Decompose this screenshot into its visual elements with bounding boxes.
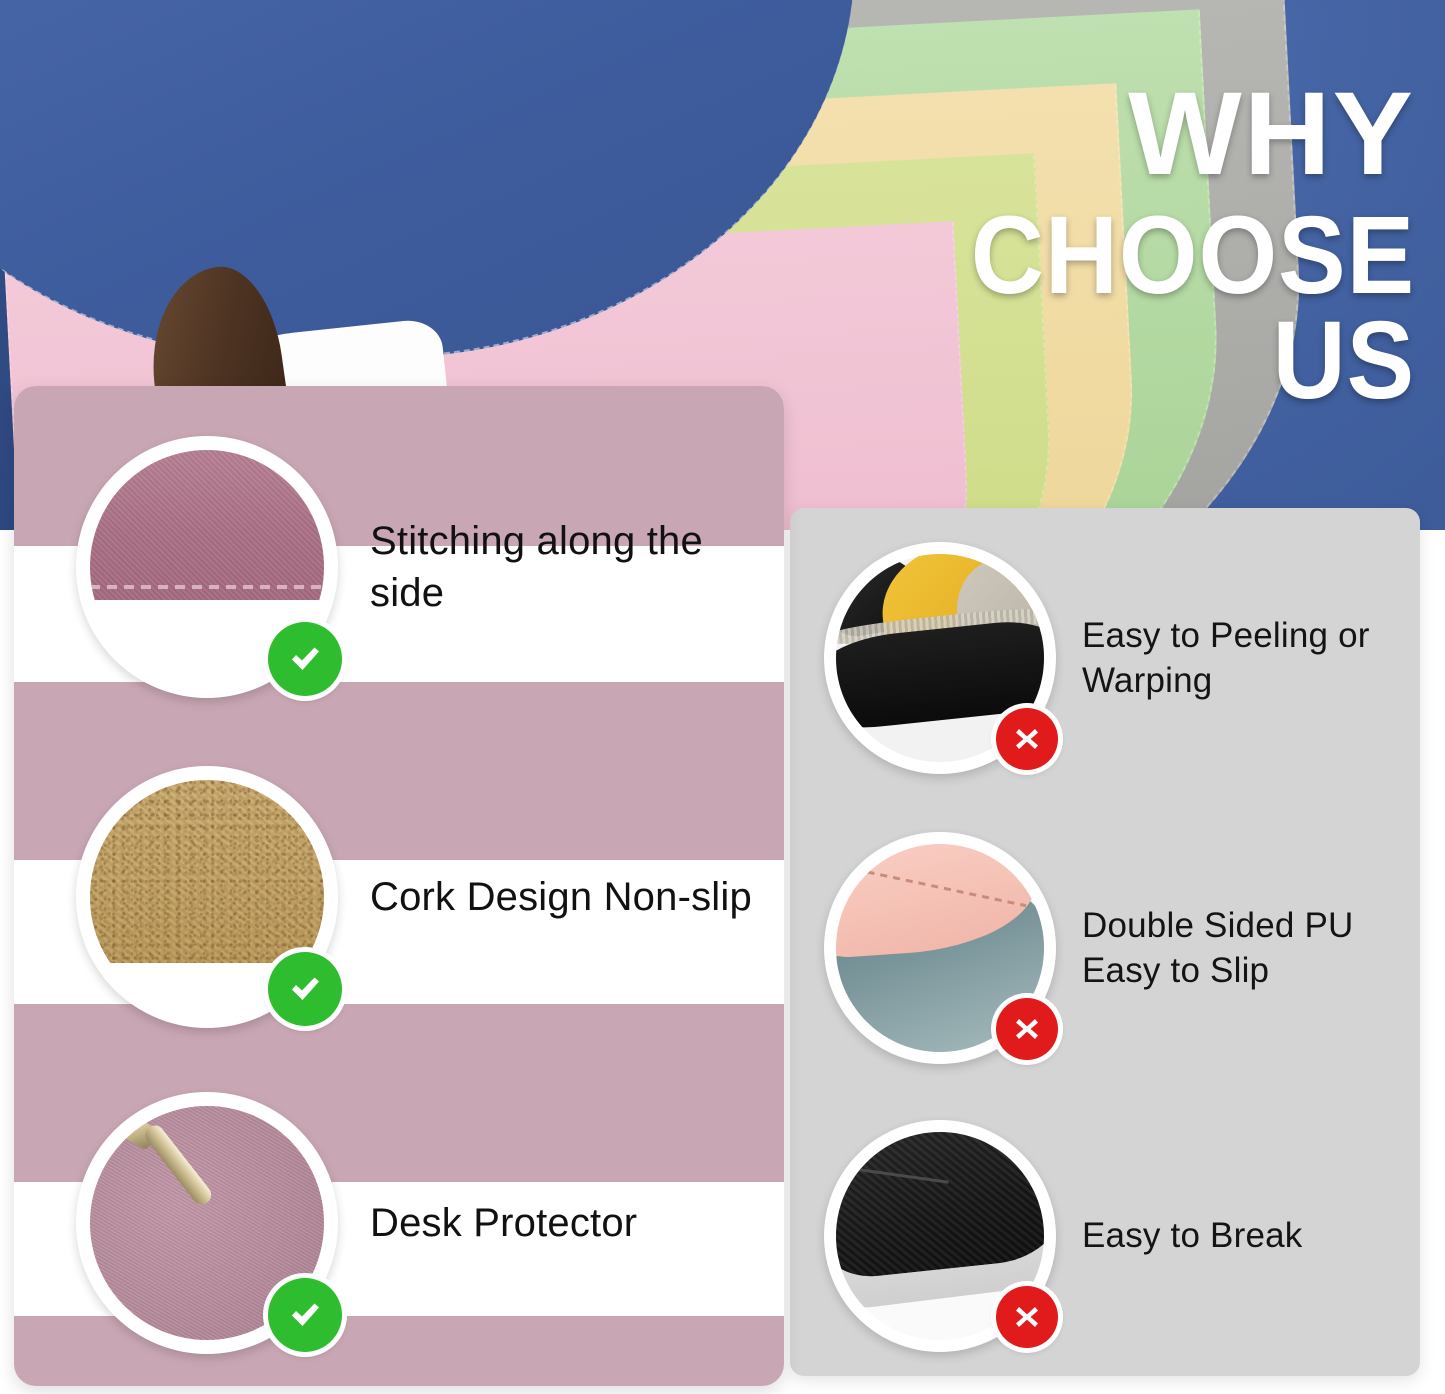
check-icon [268,952,342,1026]
leather-stitching-texture [90,450,325,600]
pros-item-label: Stitching along the side [370,515,784,619]
cons-item-label: Easy to Break [1082,1213,1302,1259]
cross-icon [996,708,1058,770]
cons-item-break: Easy to Break [790,1108,1420,1364]
pros-thumbnail-desk-protector [76,1092,338,1354]
cons-panel: Easy to Peeling or Warping Double Sided … [790,508,1420,1376]
pros-thumbnail-stitching [76,436,338,698]
cons-thumbnail-double-sided [824,832,1056,1064]
cons-item-peeling: Easy to Peeling or Warping [790,530,1420,786]
cons-item-label: Easy to Peeling or Warping [1082,613,1420,704]
pros-item-stitching: Stitching along the side [14,408,784,726]
pros-item-desk-protector: Desk Protector [14,1064,784,1382]
cons-item-label: Double Sided PU Easy to Slip [1082,903,1420,994]
cross-icon [996,998,1058,1060]
cross-icon [996,1286,1058,1348]
pros-item-label: Desk Protector [370,1197,637,1249]
product-infographic: WHY CHOOSE US Easy to Pee [0,0,1445,1394]
check-icon [268,1278,342,1352]
cons-thumbnail-break [824,1120,1056,1352]
headline-line-2: CHOOSE US [937,204,1415,413]
cons-item-double-sided: Double Sided PU Easy to Slip [790,820,1420,1076]
stitch-line-icon [90,585,325,589]
pros-item-cork: Cork Design Non-slip [14,738,784,1056]
pros-thumbnail-cork [76,766,338,1028]
metal-tip-icon [90,1110,241,1252]
headline-line-1: WHY [885,78,1415,190]
pros-panel: Stitching along the side Cork Design Non… [14,386,784,1386]
check-icon [268,622,342,696]
cons-thumbnail-peeling [824,542,1056,774]
page-title: WHY CHOOSE US [895,78,1415,413]
cork-texture [90,780,325,963]
pros-item-label: Cork Design Non-slip [370,871,752,923]
